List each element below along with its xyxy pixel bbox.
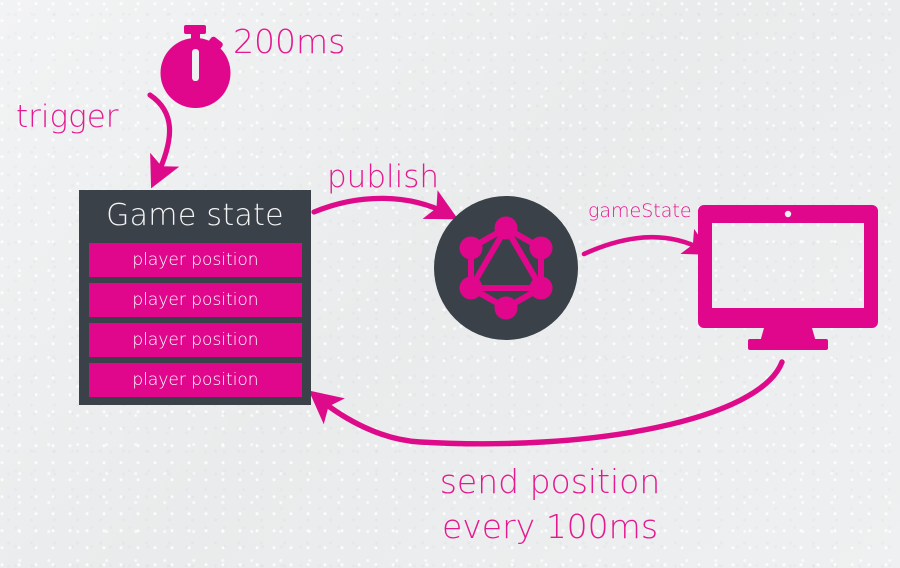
desktop-monitor-icon [698, 205, 878, 350]
gamestate-arrow [584, 237, 703, 254]
send-position-line-1: send position [370, 459, 730, 504]
diagram-canvas: Game state player position player positi… [0, 0, 900, 568]
graphql-logo-icon [434, 196, 578, 340]
send-position-line-2: every 100ms [370, 504, 730, 549]
send-position-label: send position every 100ms [370, 459, 730, 549]
timer-interval-label: 200ms [233, 22, 345, 61]
trigger-arrow [150, 95, 170, 178]
publish-label: publish [327, 159, 439, 195]
game-state-title: Game state [79, 191, 311, 241]
player-position-row: player position [89, 243, 302, 277]
gamestate-label: gameState [588, 200, 692, 222]
publish-arrow [314, 198, 448, 214]
trigger-label: trigger [16, 99, 119, 135]
game-state-panel: Game state player position player positi… [79, 190, 311, 405]
player-position-row: player position [89, 323, 302, 357]
send-position-arrow [318, 362, 782, 444]
player-position-row: player position [89, 363, 302, 397]
player-position-row: player position [89, 283, 302, 317]
stopwatch-icon [161, 25, 231, 108]
